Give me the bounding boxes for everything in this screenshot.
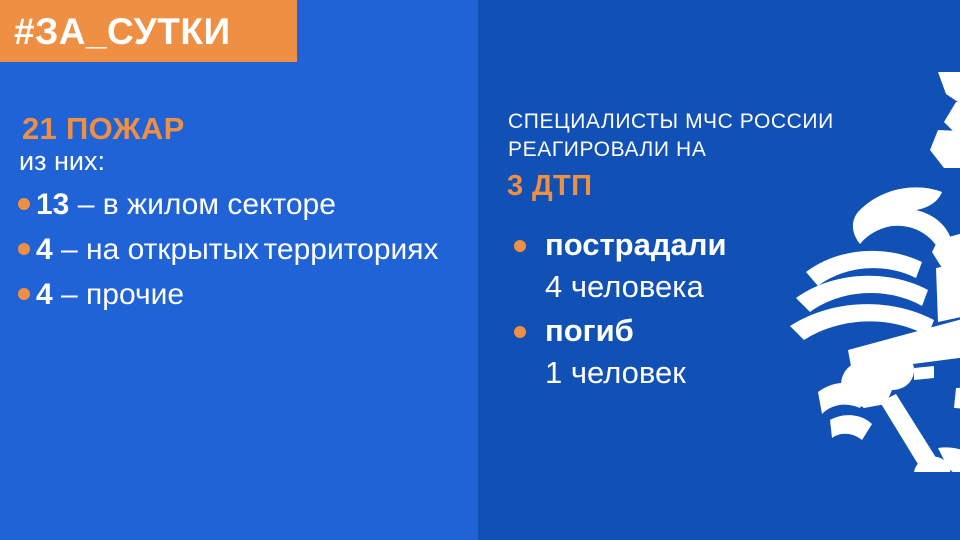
response-intro-line-2: РЕАГИРОВАЛИ НА — [508, 139, 706, 160]
response-intro-line-1: СПЕЦИАЛИСТЫ МЧС РОССИИ — [508, 111, 834, 132]
fires-count: 4 — [36, 278, 53, 311]
bullet-dot-icon — [18, 288, 30, 300]
fires-section: 21 ПОЖАР из них: 13 – в жилом секторе 4 … — [0, 0, 478, 540]
casualty-list: пострадали 4 человека погиб 1 человек — [478, 224, 960, 396]
fires-description: в жилом секторе — [103, 188, 336, 221]
list-item-line: 13 – в жилом секторе — [36, 188, 336, 221]
list-item: 4 – на открытых территориях — [0, 229, 478, 271]
list-item: погиб 1 человек — [478, 310, 960, 394]
fires-count: 4 — [36, 233, 53, 266]
list-item-line: 4 – прочие — [36, 278, 184, 311]
fires-description: на открытых — [86, 233, 259, 266]
fires-headline: 21 ПОЖАР — [22, 113, 185, 144]
list-item-body: 4 – прочие — [36, 274, 478, 316]
fires-dash: – — [69, 188, 102, 221]
fires-subhead: из них: — [19, 148, 105, 175]
list-item: 4 – прочие — [0, 274, 478, 316]
bullet-dot-icon — [18, 243, 30, 255]
casualty-value: 1 человек — [514, 352, 960, 394]
fires-breakdown-list: 13 – в жилом секторе 4 – на открытых тер… — [0, 184, 478, 319]
list-item-body: 4 – на открытых территориях — [36, 229, 478, 271]
accidents-headline: 3 ДТП — [507, 172, 592, 201]
casualty-value: 4 человека — [514, 266, 960, 308]
fires-description: прочие — [86, 278, 184, 311]
fires-count: 13 — [36, 188, 69, 221]
bullet-dot-icon — [18, 198, 30, 210]
fires-dash: – — [53, 278, 86, 311]
bullet-dot-icon — [514, 240, 526, 252]
fires-dash: – — [53, 233, 86, 266]
bullet-dot-icon — [514, 326, 526, 338]
list-item-body: 13 – в жилом секторе — [36, 184, 478, 226]
list-item: пострадали 4 человека — [478, 224, 960, 308]
accidents-section: СПЕЦИАЛИСТЫ МЧС РОССИИ РЕАГИРОВАЛИ НА 3 … — [478, 0, 960, 540]
casualty-title: пострадали — [514, 224, 960, 266]
fires-description-wrap: территориях — [264, 233, 439, 266]
infographic-canvas: #ЗА_СУТКИ 21 ПОЖАР из них: 13 – в жилом … — [0, 0, 960, 540]
casualty-title: погиб — [514, 310, 960, 352]
list-item: 13 – в жилом секторе — [0, 184, 478, 226]
list-item-line: 4 – на открытых — [36, 233, 259, 266]
